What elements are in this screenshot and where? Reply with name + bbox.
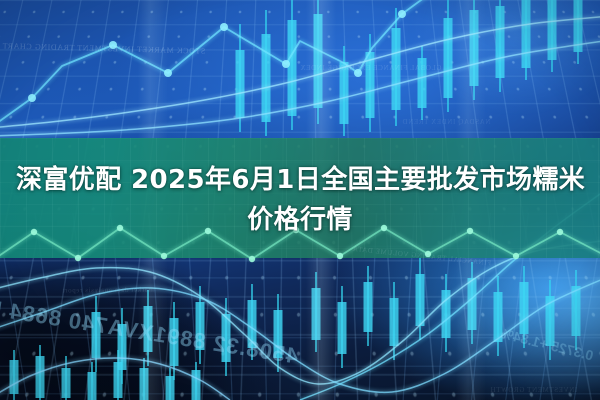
- chart-data-point: [425, 251, 431, 257]
- chart-data-point: [337, 253, 343, 259]
- headline-line-2: 价格行情: [16, 200, 584, 240]
- headline-line-1: 深富优配 2025年6月1日全国主要批发市场糯米: [16, 165, 585, 195]
- chart-data-point: [75, 255, 81, 261]
- chart-data-point: [161, 253, 167, 259]
- chart-data-point: [513, 253, 519, 259]
- chart-data-point: [249, 256, 255, 262]
- article-banner-image: STOCK MARKET INVESTMENT TRADING CHART GL…: [0, 0, 600, 400]
- banner-headline: 深富优配 2025年6月1日全国主要批发市场糯米 价格行情: [0, 160, 600, 240]
